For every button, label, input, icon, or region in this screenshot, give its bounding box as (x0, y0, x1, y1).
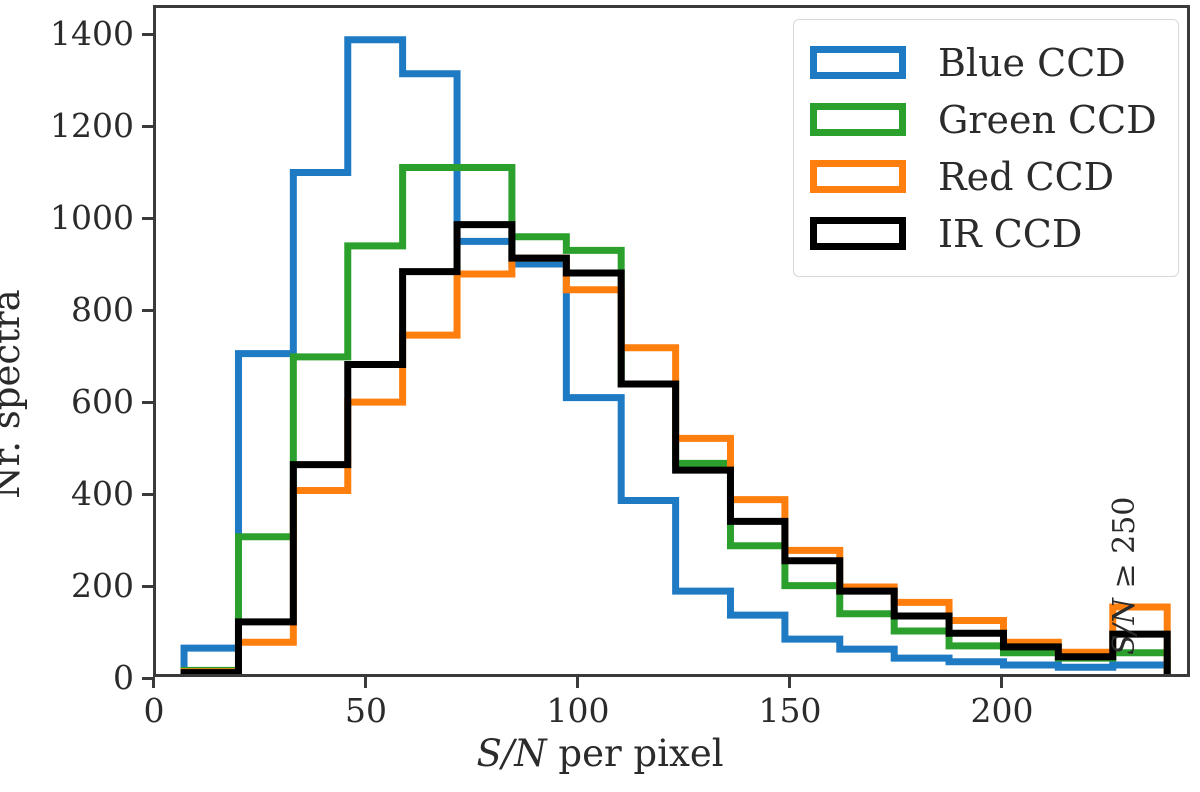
x-axis-title: S/N per pixel (300, 735, 900, 772)
figure: Nr. spectra 1400 1200 1000 800 600 400 2… (0, 0, 1200, 792)
legend-entry-blue-ccd[interactable]: Blue CCD (810, 34, 1162, 91)
y-tick-mark (142, 585, 153, 588)
x-tick-mark (1000, 677, 1003, 688)
legend-entry-ir-ccd[interactable]: IR CCD (810, 205, 1162, 262)
y-tick-mark (142, 493, 153, 496)
y-tick-mark (142, 125, 153, 128)
y-tick-label: 400 (0, 477, 134, 510)
x-tick-mark (364, 677, 367, 688)
x-tick-mark (152, 677, 155, 688)
overflow-annotation-rest: ≥ 250 (1107, 497, 1142, 598)
x-tick-mark (576, 677, 579, 688)
y-tick-mark (142, 309, 153, 312)
y-tick-label: 600 (0, 385, 134, 418)
y-tick-mark (142, 33, 153, 36)
legend-label-blue-ccd: Blue CCD (938, 44, 1126, 82)
x-tick-mark (788, 677, 791, 688)
x-axis-title-rest: per pixel (547, 732, 724, 775)
overflow-annotation-math: S/N (1107, 598, 1142, 655)
legend: Blue CCD Green CCD Red CCD IR CCD (793, 19, 1179, 277)
x-axis-title-math: S/N (476, 732, 546, 775)
legend-label-red-ccd: Red CCD (938, 158, 1114, 196)
y-tick-label: 1400 (0, 17, 134, 50)
legend-swatch-red-ccd (810, 160, 906, 193)
legend-label-ir-ccd: IR CCD (938, 215, 1082, 253)
x-tick-label: 50 (306, 694, 426, 727)
x-tick-label: 100 (518, 694, 638, 727)
y-tick-label: 1000 (0, 201, 134, 234)
legend-entry-green-ccd[interactable]: Green CCD (810, 91, 1162, 148)
y-tick-mark (142, 217, 153, 220)
legend-swatch-blue-ccd (810, 46, 906, 79)
legend-swatch-green-ccd (810, 103, 906, 136)
y-tick-label: 800 (0, 293, 134, 326)
overflow-annotation: S/N ≥ 250 (1110, 415, 1140, 655)
y-tick-label: 0 (0, 661, 134, 694)
histogram-series-ir-ccd (184, 225, 1167, 674)
legend-label-green-ccd: Green CCD (938, 101, 1157, 139)
legend-entry-red-ccd[interactable]: Red CCD (810, 148, 1162, 205)
x-tick-label: 150 (730, 694, 850, 727)
legend-swatch-ir-ccd (810, 217, 906, 250)
y-tick-label: 1200 (0, 109, 134, 142)
y-tick-label: 200 (0, 569, 134, 602)
x-tick-label: 200 (942, 694, 1062, 727)
y-tick-mark (142, 401, 153, 404)
x-tick-label: 0 (94, 694, 214, 727)
